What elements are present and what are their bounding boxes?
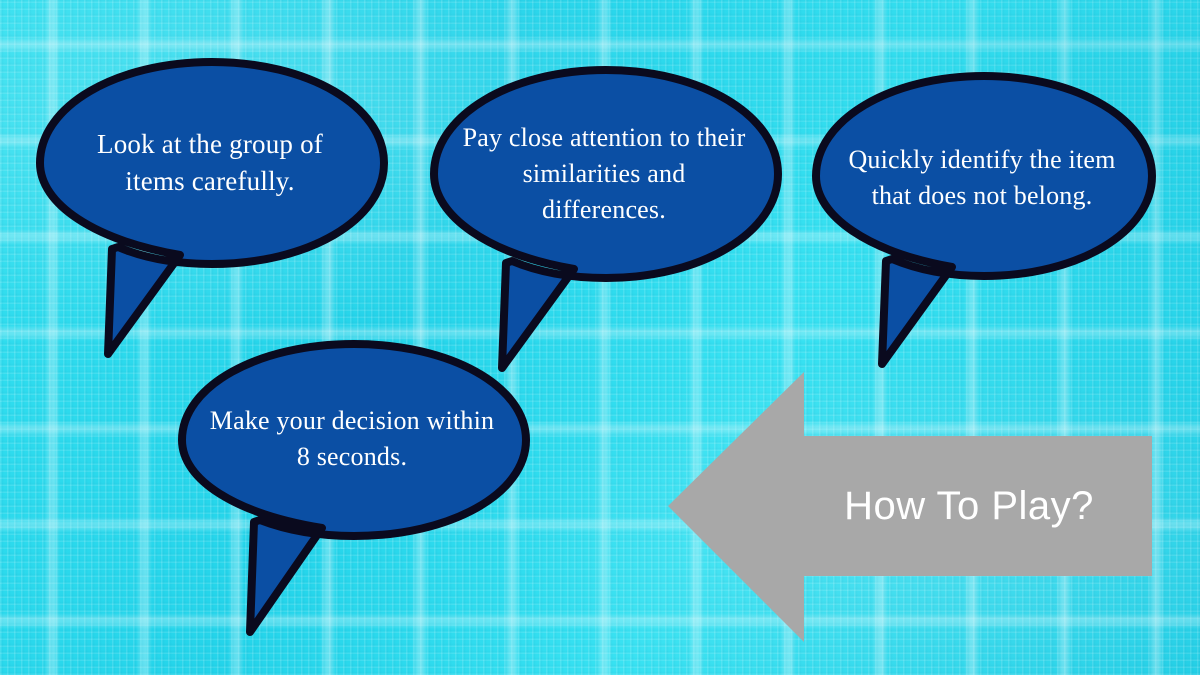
left-arrow-icon <box>664 368 1156 648</box>
slide-canvas: Look at the group of items carefully. Pa… <box>0 0 1200 675</box>
speech-bubble-4-shape <box>178 340 530 640</box>
speech-bubble-1[interactable]: Look at the group of items carefully. <box>36 58 388 368</box>
how-to-play-arrow[interactable]: How To Play? <box>664 368 1156 653</box>
speech-bubble-1-shape <box>36 58 388 368</box>
speech-bubble-2-shape <box>430 66 782 376</box>
speech-bubble-4[interactable]: Make your decision within 8 seconds. <box>178 340 530 640</box>
speech-bubble-3[interactable]: Quickly identify the item that does not … <box>812 72 1160 372</box>
speech-bubble-2[interactable]: Pay close attention to their similaritie… <box>430 66 782 376</box>
speech-bubble-3-shape <box>812 72 1160 372</box>
